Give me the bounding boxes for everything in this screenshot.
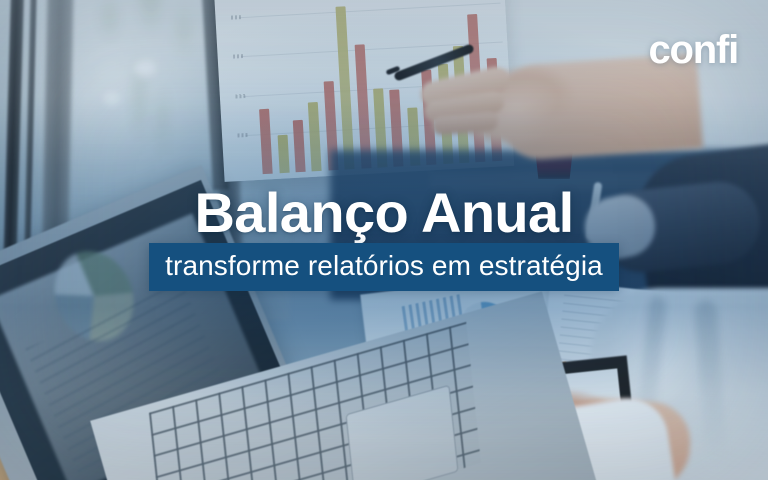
subtitle-wrapper: transforme relatórios em estratégia [0, 243, 768, 291]
promo-banner: confi Balanço Anual transforme relatório… [0, 0, 768, 480]
page-subtitle: transforme relatórios em estratégia [149, 243, 619, 291]
confi-logo[interactable]: confi [648, 30, 738, 70]
page-title: Balanço Anual [0, 184, 768, 241]
